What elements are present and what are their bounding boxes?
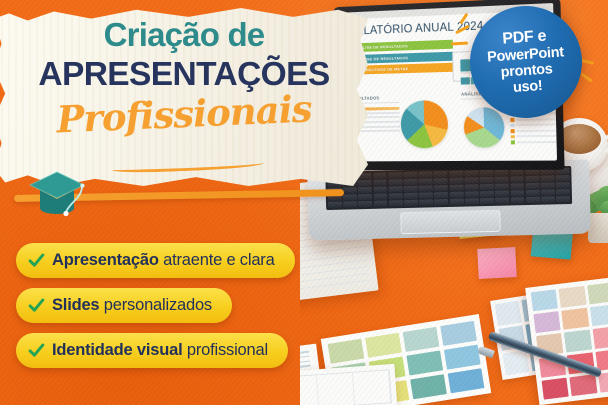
keyboard-key <box>510 190 524 196</box>
laptop-trackpad <box>400 210 501 234</box>
color-swatch-card <box>525 277 608 405</box>
keyboard-key <box>464 177 478 183</box>
keyboard-key <box>343 187 357 193</box>
keyboard-key <box>495 184 509 190</box>
keyboard-key <box>449 171 463 177</box>
color-swatch <box>444 345 481 370</box>
keyboard-key <box>510 183 524 189</box>
keyboard-key <box>465 199 479 205</box>
keyboard-key <box>419 178 433 184</box>
keyboard-key <box>419 200 433 206</box>
feature-pill-label: Apresentação atraente e clara <box>52 251 275 270</box>
check-icon <box>28 342 45 359</box>
progress-segment <box>461 77 470 84</box>
keyboard-key <box>373 180 387 186</box>
keyboard-key <box>389 200 403 206</box>
legend-item <box>511 129 557 133</box>
keyboard-key <box>358 180 372 186</box>
keyboard-key <box>373 173 387 179</box>
keyboard-key <box>465 192 479 198</box>
feature-pill-1[interactable]: Apresentação atraente e clara <box>16 243 295 278</box>
keyboard-key <box>404 193 418 199</box>
keyboard-key <box>449 178 463 184</box>
feature-pill-label: Slides personalizados <box>52 296 212 315</box>
keyboard-key <box>388 186 402 192</box>
keyboard-key <box>495 198 509 204</box>
legend-item <box>511 134 557 138</box>
keyboard-key <box>434 185 448 191</box>
keyboard-key <box>419 171 433 177</box>
keyboard-key <box>389 193 403 199</box>
keyboard-key <box>358 194 372 200</box>
keyboard-key <box>343 194 357 200</box>
keyboard-key <box>556 182 570 188</box>
check-icon <box>28 297 45 314</box>
keyboard-key <box>556 175 570 181</box>
keyboard-key <box>465 184 479 190</box>
keyboard-key <box>541 190 555 196</box>
legend-item <box>510 117 556 121</box>
color-swatch <box>531 289 558 311</box>
keyboard-key <box>434 199 448 205</box>
promo-banner: RELATÓRIO ANUAL 2024 ANÁLISE DE RESULTAD… <box>0 0 608 405</box>
headline-line-2: APRESENTAÇÕES <box>0 56 368 94</box>
keyboard-key <box>480 184 494 190</box>
keyboard-key <box>480 177 494 183</box>
headline-block: Criação de APRESENTAÇÕES Profissionais <box>0 18 368 133</box>
keyboard-key <box>419 186 433 192</box>
color-swatch <box>562 308 589 330</box>
keyboard-key <box>434 171 448 177</box>
color-swatch <box>502 350 529 375</box>
plant-pot <box>588 213 608 243</box>
check-icon <box>28 252 45 269</box>
keyboard-key <box>450 199 464 205</box>
feature-list: Apresentação atraente e claraSlides pers… <box>16 243 346 378</box>
keyboard-key <box>373 187 387 193</box>
pie-chart-results <box>400 100 448 148</box>
keyboard-key <box>510 176 524 182</box>
keyboard-key <box>404 186 418 192</box>
keyboard-key <box>495 177 509 183</box>
headline-line-1: Criação de <box>0 18 368 51</box>
color-swatch <box>533 311 560 333</box>
keyboard-key <box>556 189 570 195</box>
keyboard-key <box>449 185 463 191</box>
keyboard-key <box>328 202 342 208</box>
color-swatch <box>406 350 443 375</box>
color-swatch <box>570 374 597 396</box>
graduation-cap-icon <box>26 168 88 226</box>
legend-item <box>511 140 557 144</box>
keyboard-key <box>373 194 387 200</box>
keyboard-key <box>525 183 539 189</box>
keyboard-key <box>358 201 372 207</box>
color-swatch <box>448 368 485 393</box>
keyboard-key <box>434 178 448 184</box>
color-swatch <box>564 330 591 352</box>
feature-pill-3[interactable]: Identidade visual profissional <box>16 333 288 368</box>
keyboard-key <box>464 170 478 176</box>
color-swatch <box>590 304 608 326</box>
color-swatch <box>365 333 402 358</box>
keyboard-key <box>404 200 418 206</box>
keyboard-key <box>449 192 463 198</box>
keyboard-key <box>388 172 402 178</box>
sticky-note-pink <box>477 247 517 279</box>
keyboard-key <box>374 201 388 207</box>
color-swatch <box>542 377 569 399</box>
color-swatch <box>403 327 440 352</box>
keyboard-key <box>540 176 554 182</box>
keyboard-key <box>510 169 524 175</box>
color-swatch <box>559 286 586 308</box>
keyboard-key <box>526 197 540 203</box>
keyboard-key <box>556 196 570 202</box>
keyboard-key <box>541 183 555 189</box>
keyboard-key <box>480 198 494 204</box>
keyboard-key <box>495 191 509 197</box>
color-swatch <box>587 282 608 304</box>
keyboard-key <box>419 193 433 199</box>
keyboard-key <box>404 179 418 185</box>
color-swatch <box>410 374 447 399</box>
keyboard-key <box>343 202 357 208</box>
keyboard-key <box>541 197 555 203</box>
keyboard-key <box>525 176 539 182</box>
feature-pill-2[interactable]: Slides personalizados <box>16 288 232 323</box>
keyboard-key <box>526 190 540 196</box>
keyboard-key <box>434 192 448 198</box>
keyboard-key <box>479 170 493 176</box>
keyboard-key <box>510 197 524 203</box>
keyboard-key <box>403 172 417 178</box>
color-swatch <box>592 326 608 348</box>
pie-chart-costs <box>463 107 504 148</box>
color-swatch <box>495 301 522 326</box>
keyboard-key <box>388 179 402 185</box>
color-swatch <box>440 321 477 346</box>
legend-item <box>510 123 556 127</box>
keyboard-key <box>480 191 494 197</box>
feature-pill-label: Identidade visual profissional <box>52 341 268 360</box>
keyboard-key <box>495 170 509 176</box>
keyboard-key <box>358 187 372 193</box>
